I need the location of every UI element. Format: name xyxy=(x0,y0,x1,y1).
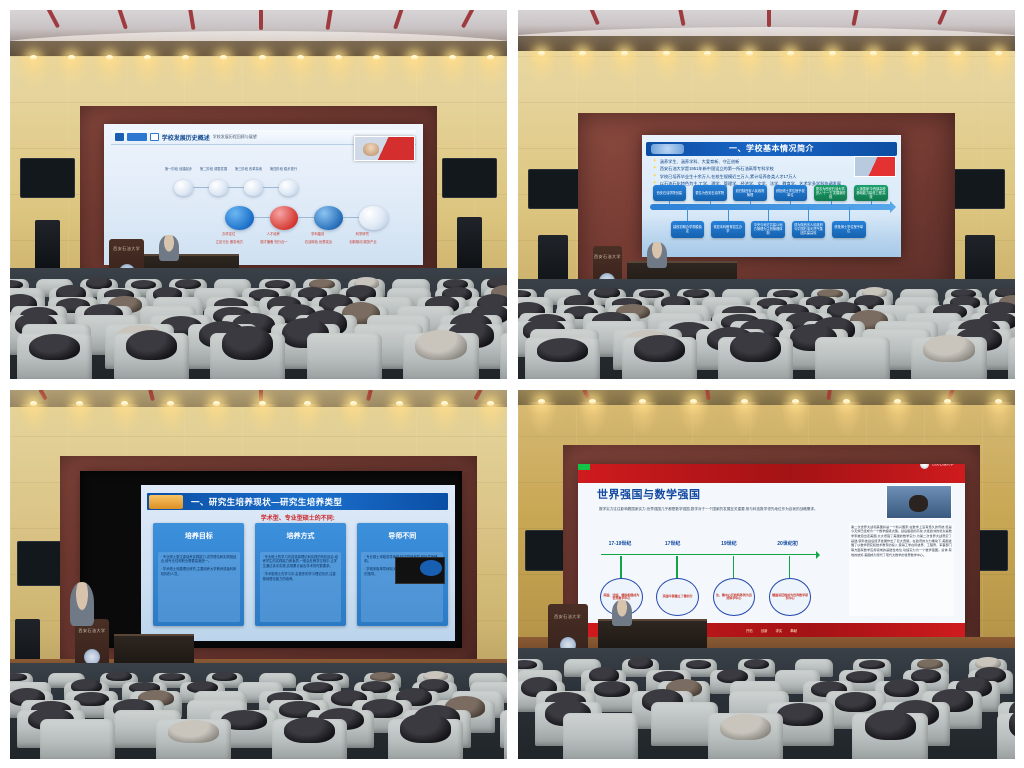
bullet-item: ✦西安石油大学是1951年新中国设立的第一所石油高等专科学校 xyxy=(653,166,855,172)
ceiling xyxy=(518,10,1015,38)
flow-node-label: 第一阶段 创建起步 xyxy=(165,166,192,171)
audience-head xyxy=(126,330,177,360)
flow-node xyxy=(244,180,263,195)
comparison-column: 培养目标· 专业硕士更注重培养实践能力,讲究理论和实践相结合,使专业性和职业需要… xyxy=(153,523,244,626)
timeline-box-top: 划归陕西省人民政府管理 xyxy=(733,185,767,201)
timeline-box-top: 西安石油学院创建 xyxy=(653,185,687,201)
ceiling-slat xyxy=(366,390,373,401)
speaker-silhouette xyxy=(909,495,928,512)
audience-head xyxy=(730,332,781,362)
right-text-column: 第二次世界大战和美国并是一个新兴国家,在数学上没有悠久的传统,但是今天却已经成为… xyxy=(849,523,954,617)
bullet-list: ✦涵养学生、涵养学科、大爱育新、守正创新✦西安石油大学是1951年新中国设立的第… xyxy=(653,159,855,189)
downlight-glow xyxy=(133,58,163,92)
downlight-glow xyxy=(248,404,278,438)
column-heading: 培养目标 xyxy=(153,523,244,550)
downlight-glow xyxy=(19,58,49,92)
ceiling-slat xyxy=(851,10,859,27)
footer-motto-item: 开拓 xyxy=(746,628,753,633)
audience-head xyxy=(400,713,451,742)
side-monitor-left xyxy=(17,541,62,585)
downlight-glow xyxy=(610,54,640,88)
audience-head xyxy=(720,714,771,740)
ceiling-slat xyxy=(590,10,601,26)
downlight-glow xyxy=(832,402,862,436)
timeline-tick xyxy=(849,207,850,220)
picture-in-picture-speaker xyxy=(886,485,952,520)
downlight-glow xyxy=(735,54,765,88)
auditorium-seat xyxy=(500,333,507,379)
podium-label: 西安石油大学 xyxy=(113,246,140,252)
ceiling-slat xyxy=(473,390,482,401)
downlight-glow xyxy=(943,54,973,88)
timeline-stem xyxy=(733,556,735,580)
column-body: · 专业硕士的学习内容强调理论和实践的有机结合,培养学生的实践能力和素质,一般会… xyxy=(260,552,342,622)
bullet-marker-icon: ✦ xyxy=(653,174,657,179)
timeline-tick xyxy=(669,201,670,205)
school-logo-text: 西安石油大学 xyxy=(932,464,954,468)
timeline-box-top: 更名为西安石油大学,进入'十一五'发展新阶段 xyxy=(814,185,848,201)
timeline-stem xyxy=(789,556,791,580)
flow-connector xyxy=(298,217,314,218)
slide-title: 学校发展历史概述 xyxy=(162,133,210,142)
seated-speaker xyxy=(159,235,179,261)
ceiling-slat xyxy=(46,10,60,28)
side-monitor-left xyxy=(528,169,583,210)
seated-speaker xyxy=(647,242,667,268)
flow-node-label: 第三阶段 改革探索 xyxy=(235,166,262,171)
audience-head xyxy=(370,672,396,681)
flow-connector xyxy=(254,217,270,218)
flow-node-caption: 德才兼备 知行合一 xyxy=(260,239,287,244)
downlight-glow xyxy=(628,402,658,436)
timeline-event-circle: 德国哥廷根成为世界数学研究中心 xyxy=(769,578,812,616)
audience-head xyxy=(923,335,974,362)
projection-screen-frame: 学校发展历史概述 学校发展历程回顾与展望 第一阶段 创建起步第二阶段 调整发展第… xyxy=(104,124,422,264)
flow-node-label: 人才培养 xyxy=(267,231,280,236)
flow-node-primary xyxy=(225,206,254,230)
school-logo-block: 西安石油大学 xyxy=(920,464,954,466)
timeline-event-circle: 法、德中心开始转移到为自然科学中心 xyxy=(713,578,756,616)
downlight-glow xyxy=(95,58,125,92)
downlight-glow xyxy=(209,58,239,92)
projection-screen-frame: 西安石油大学 世界强国与数学强国 数学实力往往影响着国家实力,世界强国几乎都是数… xyxy=(578,464,966,637)
downlight-glow xyxy=(693,54,723,88)
picture-in-picture-speaker xyxy=(854,156,895,177)
downlight-glow xyxy=(781,402,811,436)
seated-speaker xyxy=(612,600,632,626)
bullet-marker-icon: ✦ xyxy=(653,159,657,164)
timeline-tick xyxy=(710,201,711,205)
downlight-glow xyxy=(202,404,232,438)
audience-head xyxy=(106,671,132,681)
podium-label: 西安石油大学 xyxy=(594,254,621,260)
footer-motto-item: 求实 xyxy=(775,628,782,633)
timeline-tick xyxy=(871,201,872,205)
audience-head xyxy=(159,673,185,681)
audience-head xyxy=(518,660,537,669)
flow-connector xyxy=(343,217,359,218)
flow-node xyxy=(209,180,228,195)
photo-top-left: 学校发展历史概述 学校发展历程回顾与展望 第一阶段 创建起步第二阶段 调整发展第… xyxy=(10,10,507,379)
timeline-box-bottom: 成为陕西省人民政府与中国石油天然气集团共建高校 xyxy=(792,221,826,238)
audience-head xyxy=(865,710,916,740)
auditorium-seat xyxy=(1008,337,1015,379)
flow-node-label: 办学定位 xyxy=(222,231,235,236)
timeline-era-label: 20世纪初 xyxy=(777,540,798,547)
flow-node-label: 第二阶段 调整发展 xyxy=(200,166,227,171)
slide-title: 一、学校基本情况简介 xyxy=(729,143,814,154)
photo-top-right: 一、学校基本情况简介 ✦涵养学生、涵养学科、大爱育新、守正创新✦西安石油大学是1… xyxy=(518,10,1015,379)
pip-badge-icon xyxy=(420,560,442,576)
downlight-row xyxy=(10,55,507,92)
loudspeaker-right xyxy=(457,217,482,272)
flow-node xyxy=(279,180,298,195)
downlight-glow xyxy=(339,404,369,438)
downlight-glow xyxy=(156,404,186,438)
downlight-glow xyxy=(57,58,87,92)
slide-title: 世界强国与数学强国 xyxy=(597,486,701,502)
bullet-marker-icon: ✦ xyxy=(653,166,657,171)
downlight-glow xyxy=(527,402,557,436)
downlight-glow xyxy=(883,402,913,436)
bullet-text: 学校已培养毕业生十余万人,在校生规模近三万人,累计培养各类人才17万人 xyxy=(660,174,797,180)
timeline-era-label: 19世纪 xyxy=(721,540,737,547)
flow-node-label: 学科建设 xyxy=(311,231,324,236)
footer-motto-item: 创新 xyxy=(761,628,768,633)
ceiling-slat xyxy=(678,10,686,27)
audience-head xyxy=(86,277,112,289)
timeline-era-label: 17-19世纪 xyxy=(609,540,632,547)
downlight-glow xyxy=(400,58,430,92)
flow-node-caption: 石油特色 优势突出 xyxy=(305,239,332,244)
photo-grid: 学校发展历史概述 学校发展历程回顾与展望 第一阶段 创建起步第二阶段 调整发展第… xyxy=(0,0,1024,768)
slide-school-overview: 一、学校基本情况简介 ✦涵养学生、涵养学科、大爱育新、守正创新✦西安石油大学是1… xyxy=(642,135,900,257)
timeline-box-bottom: 建校初期办学规模奠定 xyxy=(671,221,705,238)
comparison-column: 培养方式· 专业硕士的学习内容强调理论和实践的有机结合,培养学生的实践能力和素质… xyxy=(255,523,346,626)
audience-head xyxy=(634,335,685,362)
podium-label: 西安石油大学 xyxy=(79,628,106,634)
audience-head xyxy=(415,330,466,360)
timeline-tick xyxy=(768,207,769,220)
downlight-glow xyxy=(438,58,468,92)
downlight-glow xyxy=(65,404,95,438)
timeline-stem xyxy=(620,556,622,580)
column-body: · 专业硕士更注重培养实践能力,讲究理论和实践相结合,使专业性和职业需要高度统一… xyxy=(158,552,240,622)
header-square-3 xyxy=(150,133,159,141)
timeline-box-top: 更名为西安石油学院 xyxy=(693,185,727,201)
audience-head xyxy=(628,657,654,669)
downlight-row xyxy=(518,399,1015,436)
flow-node-primary xyxy=(270,206,299,230)
timeline-box-bottom: 获批博士学位授予单位 xyxy=(832,221,866,238)
flow-node-caption: 创新驱动 服务产业 xyxy=(349,239,376,244)
slide-math-power: 西安石油大学 世界强国与数学强国 数学实力往往影响着国家实力,世界强国几乎都是数… xyxy=(578,464,966,637)
timeline-tick xyxy=(750,201,751,205)
podium-label: 西安石油大学 xyxy=(554,614,581,620)
ceiling-slat xyxy=(38,390,47,401)
downlight-glow xyxy=(652,54,682,88)
flow-connector xyxy=(193,187,209,188)
timeline-tick xyxy=(831,201,832,205)
audience-head xyxy=(284,717,335,743)
downlight-glow xyxy=(984,54,1014,88)
downlight-glow xyxy=(984,402,1014,436)
downlight-row xyxy=(518,51,1015,88)
audience-head xyxy=(29,334,80,360)
downlight-glow xyxy=(110,404,140,438)
audience-area xyxy=(10,663,507,759)
timeline-tick xyxy=(687,207,688,220)
seat-row xyxy=(518,337,1015,379)
audience-head xyxy=(917,659,943,669)
column-list-item: · 学术硕士侧重理论研究,主要培养大学教师或者科研机构的人员。 xyxy=(161,567,237,577)
audience-head xyxy=(317,673,343,681)
downlight-glow xyxy=(476,58,506,92)
audience-area xyxy=(518,279,1015,379)
footer-motto-item: 奉献 xyxy=(790,628,797,633)
downlight-glow xyxy=(527,54,557,88)
ceiling-slat xyxy=(259,390,263,401)
audience-head xyxy=(10,673,27,681)
timeline-box-top: 获批硕士学位授予权单位 xyxy=(774,185,808,201)
downlight-glow xyxy=(476,404,506,438)
bullet-text: 涵养学生、涵养学科、大爱育新、守正创新 xyxy=(660,159,740,165)
timeline-tick xyxy=(728,207,729,220)
slide-top-band: 西安石油大学 xyxy=(578,464,966,483)
auditorium-seat xyxy=(307,333,382,379)
downlight-glow xyxy=(248,58,278,92)
bullet-item: ✦学校已培养毕业生十余万人,在校生规模近三万人,累计培养各类人才17万人 xyxy=(653,174,855,180)
header-square-1 xyxy=(115,133,124,141)
flow-node-label: 第四阶段 稳步提升 xyxy=(270,166,297,171)
slide-title: 一、研究生培养现状—研究生培养类型 xyxy=(191,496,342,508)
column-list-item: · 专业硕士更注重培养实践能力,讲究理论和实践相结合,使专业性和职业需要高度统一… xyxy=(161,555,237,565)
projection-screen-frame: 一、研究生培养现状—研究生培养类型 学术型、专业型硕士的不同: 培养目标· 专业… xyxy=(80,471,463,648)
seat-row xyxy=(518,713,1015,759)
slide-subtitle: 学术型、专业型硕士的不同: xyxy=(141,513,455,522)
timeline-stem xyxy=(676,556,678,580)
slide-lead-paragraph: 数学实力往往影响着国家实力,世界强国几乎都是数学强国,数学对于一个国家的发展至关… xyxy=(599,507,880,512)
column-list-item: · 学术型硕士在学习中,会更多的学习理论知识,注重基础理论能力的培养。 xyxy=(263,572,339,582)
slide-school-history: 学校发展历史概述 学校发展历程回顾与展望 第一阶段 创建起步第二阶段 调整发展第… xyxy=(104,124,422,264)
timeline-era-label: 17世纪 xyxy=(665,540,681,547)
side-monitor-left xyxy=(20,158,75,199)
flow-node xyxy=(174,180,193,195)
side-monitor-right xyxy=(950,169,1005,210)
flow-node-caption: 立足行业 服务地方 xyxy=(216,239,243,244)
slide-subtitle: 学校发展历程回顾与展望 xyxy=(213,134,257,140)
timeline-box-bottom: 中央与地方共建以地方管理为主的管理体制 xyxy=(751,221,785,238)
audience-head xyxy=(212,672,238,681)
audience-head xyxy=(537,338,588,362)
ceiling-slat xyxy=(188,10,195,30)
standing-presenter xyxy=(70,582,95,626)
ceiling-slat xyxy=(259,10,263,30)
soffit xyxy=(518,36,1015,51)
flow-connector xyxy=(228,187,244,188)
header-square-2 xyxy=(127,133,147,141)
side-monitor-right xyxy=(442,158,497,199)
auditorium-seat xyxy=(563,713,638,759)
slide-header-bar: 一、研究生培养现状—研究生培养类型 xyxy=(147,493,448,510)
downlight-glow xyxy=(679,402,709,436)
downlight-glow xyxy=(568,54,598,88)
timeline-tick xyxy=(808,207,809,220)
ceiling-slat xyxy=(461,10,475,28)
downlight-glow xyxy=(385,404,415,438)
downlight-glow xyxy=(901,54,931,88)
ceiling-slat xyxy=(767,10,771,27)
column-heading: 导师不同 xyxy=(357,523,448,550)
flow-node-label: 科学研究 xyxy=(356,231,369,236)
speaker-face xyxy=(363,143,378,156)
loudspeaker-left xyxy=(35,220,60,272)
downlight-glow xyxy=(776,54,806,88)
downlight-glow xyxy=(933,402,963,436)
audience-area xyxy=(518,648,1015,759)
school-emblem-icon xyxy=(920,464,929,470)
bullet-text: 西安石油大学是1951年新中国设立的第一所石油高等专科学校 xyxy=(660,166,774,172)
downlight-glow xyxy=(430,404,460,438)
auditorium-seat xyxy=(40,719,115,759)
column-heading: 培养方式 xyxy=(255,523,346,550)
timeline-tick xyxy=(790,201,791,205)
school-logo-icon xyxy=(149,495,184,509)
flow-connector xyxy=(263,187,279,188)
ceiling xyxy=(10,10,507,43)
school-logo-icon xyxy=(651,144,684,154)
downlight-glow xyxy=(859,54,889,88)
auditorium-seat xyxy=(504,719,507,759)
ceiling-slat xyxy=(326,10,333,30)
downlight-glow xyxy=(362,58,392,92)
audience-head xyxy=(744,659,770,669)
downlight-row xyxy=(10,401,507,438)
downlight-glow xyxy=(19,404,49,438)
slide-header-bar: 一、学校基本情况简介 xyxy=(646,142,897,157)
photo-bottom-right: 西安石油大学 世界强国与数学强国 数学实力往往影响着国家实力,世界强国几乎都是数… xyxy=(518,390,1015,759)
audience-head xyxy=(168,720,219,743)
timeline-axis xyxy=(601,554,818,556)
ceiling-slat xyxy=(117,10,128,29)
timeline-box-top: 入选国家'中西部高校基础能力建设工程'高校 xyxy=(854,185,888,201)
timeline-axis xyxy=(650,204,893,210)
downlight-glow xyxy=(286,58,316,92)
downlight-glow xyxy=(324,58,354,92)
downlight-glow xyxy=(171,58,201,92)
auditorium-seat xyxy=(815,337,890,379)
picture-in-picture-speaker xyxy=(354,136,414,161)
downlight-glow xyxy=(578,402,608,436)
audience-head xyxy=(222,326,273,360)
flow-node-primary xyxy=(359,206,388,230)
timeline-box-bottom: 恢复本科教育招生办学 xyxy=(711,221,745,238)
photo-bottom-left: 一、研究生培养现状—研究生培养类型 学术型、专业型硕士的不同: 培养目标· 专业… xyxy=(10,390,507,759)
audience-head xyxy=(859,660,885,669)
downlight-glow xyxy=(730,402,760,436)
seat-row xyxy=(10,333,507,379)
downlight-glow xyxy=(818,54,848,88)
ceiling-slat xyxy=(148,390,155,401)
ceiling-slat xyxy=(937,10,948,26)
bullet-item: ✦涵养学生、涵养学科、大爱育新、守正创新 xyxy=(653,159,855,165)
ceiling-slat xyxy=(393,10,404,29)
downlight-glow xyxy=(293,404,323,438)
corner-marker-top-left xyxy=(578,464,590,470)
seat-row xyxy=(10,719,507,759)
projection-screen-frame: 一、学校基本情况简介 ✦涵养学生、涵养学科、大爱育新、守正创新✦西安石油大学是1… xyxy=(642,135,900,257)
audience-head xyxy=(686,660,712,669)
column-list-item: · 专业硕士的学习内容强调理论和实践的有机结合,培养学生的实践能力和素质,一般会… xyxy=(263,555,339,569)
slide-grad-training-types: 一、研究生培养现状—研究生培养类型 学术型、专业型硕士的不同: 培养目标· 专业… xyxy=(141,485,455,641)
timeline-event-circle: 英国牛顿建立了微积分 xyxy=(656,578,699,616)
flow-node-primary xyxy=(314,206,343,230)
audience-area xyxy=(10,268,507,379)
